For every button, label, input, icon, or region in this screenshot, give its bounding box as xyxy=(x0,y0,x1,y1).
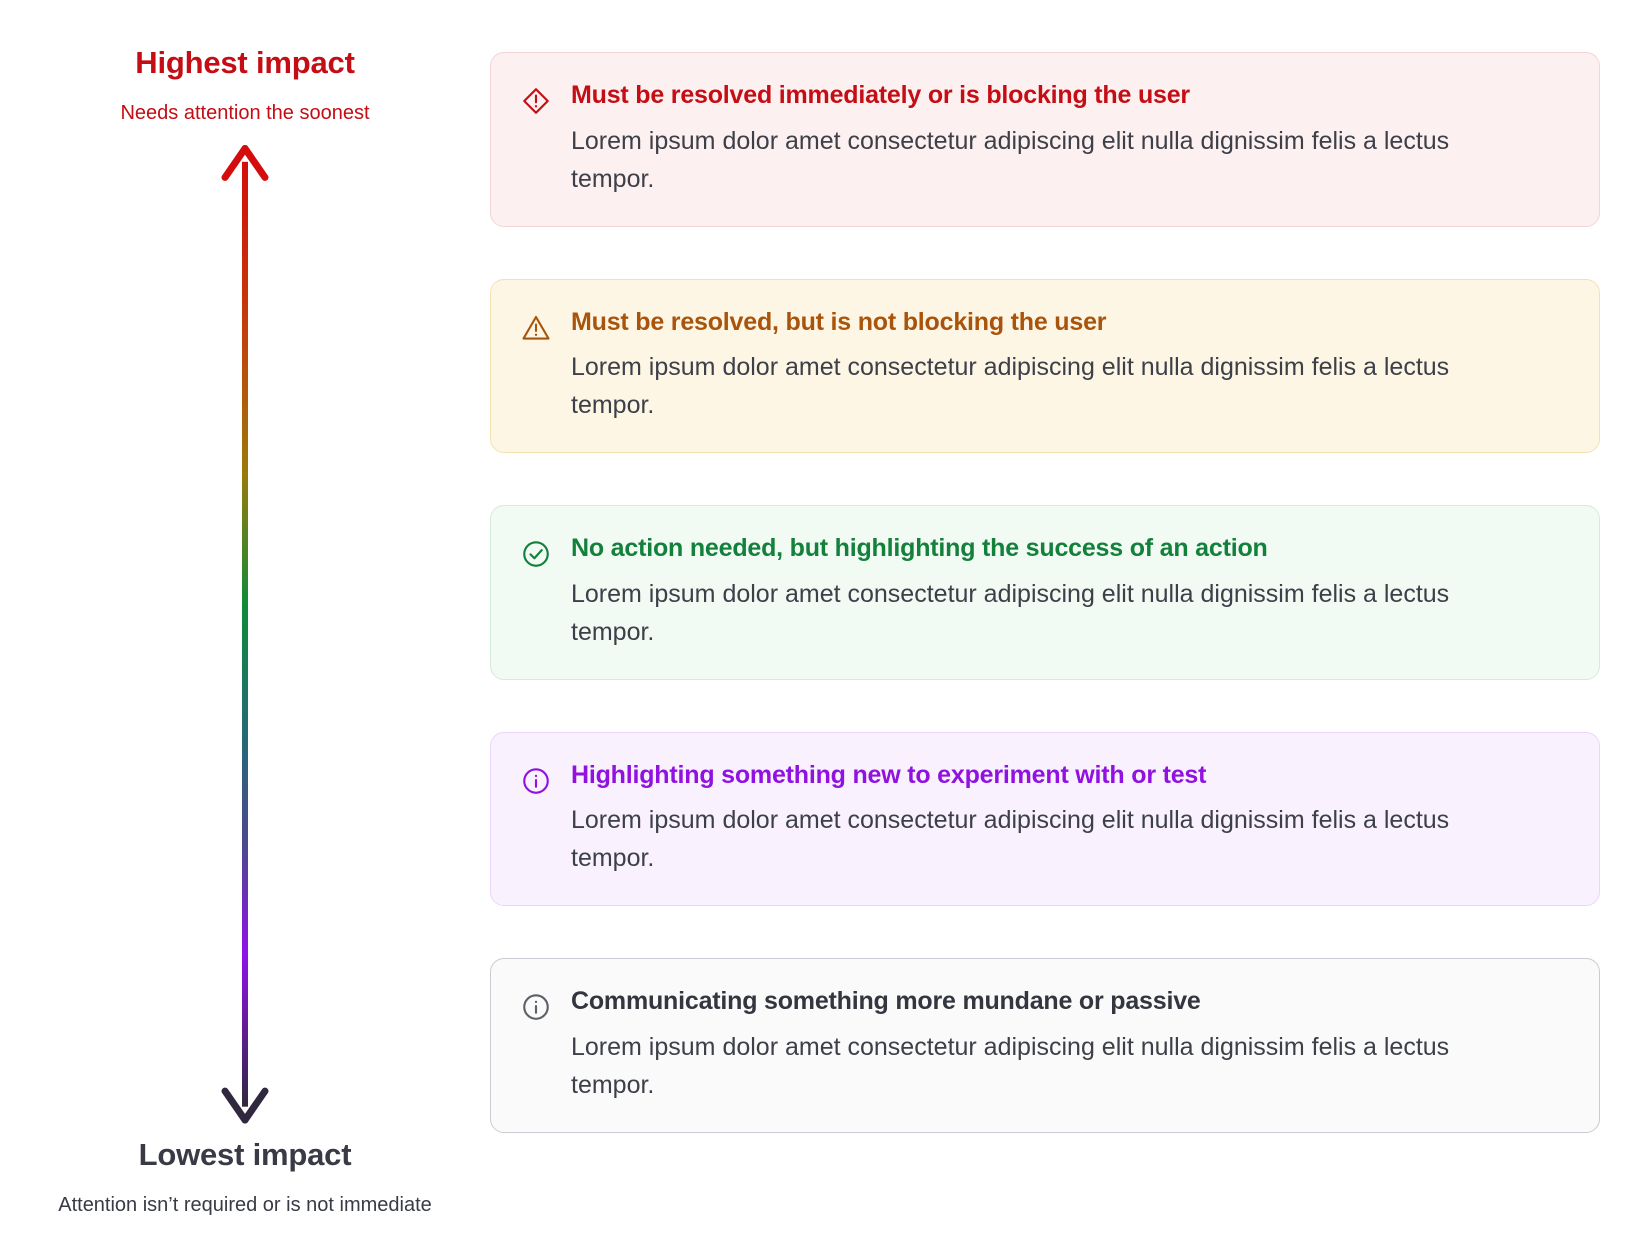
lowest-impact-title: Lowest impact xyxy=(139,1136,352,1175)
double-ended-vertical-gradient-arrow-icon xyxy=(215,144,275,1125)
info-circle-icon xyxy=(521,766,551,796)
alert-card-neutral[interactable]: Communicating something more mundane or … xyxy=(490,958,1600,1133)
alert-card-warning[interactable]: Must be resolved, but is not blocking th… xyxy=(490,279,1600,454)
impact-gradient-arrow xyxy=(215,144,275,1125)
alert-card-critical[interactable]: Must be resolved immediately or is block… xyxy=(490,52,1600,227)
alert-card-body: Highlighting something new to experiment… xyxy=(571,759,1569,878)
alert-triangle-icon xyxy=(521,313,551,343)
alert-card-info-new[interactable]: Highlighting something new to experiment… xyxy=(490,732,1600,907)
alert-card-text: Lorem ipsum dolor amet consectetur adipi… xyxy=(571,122,1491,198)
alert-card-body: No action needed, but highlighting the s… xyxy=(571,532,1569,651)
alert-card-title: Communicating something more mundane or … xyxy=(571,985,1569,1018)
alert-card-title: No action needed, but highlighting the s… xyxy=(571,532,1569,565)
check-circle-icon xyxy=(521,539,551,569)
alert-diamond-icon xyxy=(521,86,551,116)
alert-card-title: Must be resolved, but is not blocking th… xyxy=(571,306,1569,339)
alert-card-success[interactable]: No action needed, but highlighting the s… xyxy=(490,505,1600,680)
impact-scale-column: Highest impact Needs attention the soone… xyxy=(0,0,490,1248)
impact-scale-page: Highest impact Needs attention the soone… xyxy=(0,0,1652,1248)
info-circle-icon xyxy=(521,992,551,1022)
alert-card-title: Highlighting something new to experiment… xyxy=(571,759,1569,792)
lowest-impact-subtitle: Attention isn’t required or is not immed… xyxy=(58,1192,432,1218)
alert-card-text: Lorem ipsum dolor amet consectetur adipi… xyxy=(571,1028,1491,1104)
alert-card-text: Lorem ipsum dolor amet consectetur adipi… xyxy=(571,801,1491,877)
alert-card-body: Must be resolved, but is not blocking th… xyxy=(571,306,1569,425)
alert-card-text: Lorem ipsum dolor amet consectetur adipi… xyxy=(571,348,1491,424)
highest-impact-subtitle: Needs attention the soonest xyxy=(120,100,369,126)
highest-impact-title: Highest impact xyxy=(135,44,354,83)
alert-card-title: Must be resolved immediately or is block… xyxy=(571,79,1569,112)
alert-card-text: Lorem ipsum dolor amet consectetur adipi… xyxy=(571,575,1491,651)
alert-card-list: Must be resolved immediately or is block… xyxy=(490,0,1652,1248)
alert-card-body: Communicating something more mundane or … xyxy=(571,985,1569,1104)
alert-card-body: Must be resolved immediately or is block… xyxy=(571,79,1569,198)
